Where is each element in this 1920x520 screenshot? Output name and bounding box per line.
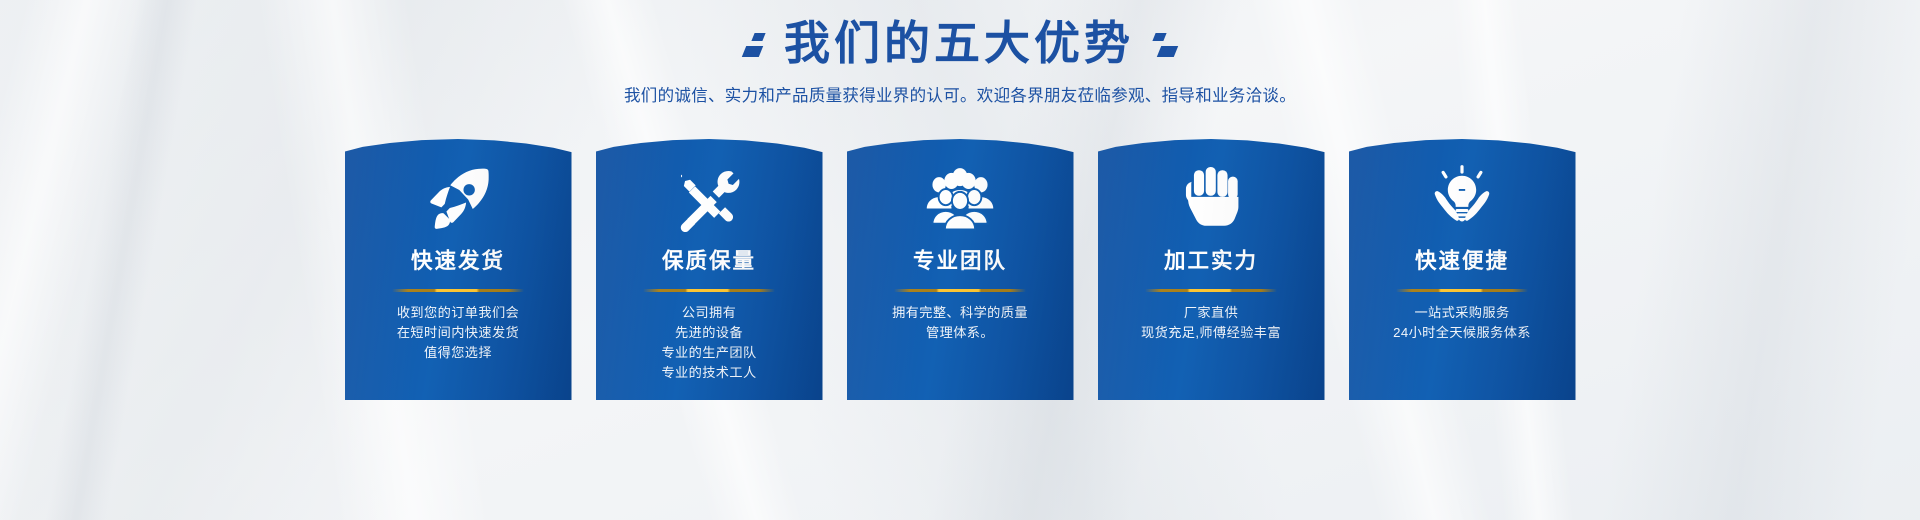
team-group-icon — [847, 138, 1074, 238]
gold-divider — [894, 289, 1026, 292]
diamond-accent-right-icon — [1154, 33, 1176, 57]
advantage-card[interactable]: 快速发货 收到您的订单我们会 在短时间内快速发货 值得您选择 — [345, 138, 572, 400]
advantage-card-description: 收到您的订单我们会 在短时间内快速发货 值得您选择 — [345, 303, 572, 363]
advantage-card-title: 快速便捷 — [1349, 249, 1576, 275]
fist-icon — [1098, 138, 1325, 238]
lightbulb-in-hands-icon — [1349, 138, 1576, 238]
advantage-card-list: 快速发货 收到您的订单我们会 在短时间内快速发货 值得您选择 — [0, 138, 1920, 400]
advantage-card-title: 快速发货 — [345, 249, 572, 275]
page-subtitle: 我们的诚信、实力和产品质量获得业界的认可。欢迎各界朋友莅临参观、指导和业务洽谈。 — [0, 82, 1920, 106]
diamond-accent-left-icon — [744, 33, 764, 57]
banner-header: 我们的五大优势 我们的诚信、实力和产品质量获得业界的认可。欢迎各界朋友莅临参观、… — [0, 14, 1920, 106]
advantage-card-description: 公司拥有 先进的设备 专业的生产团队 专业的技术工人 — [596, 303, 823, 383]
advantage-card-description: 拥有完整、科学的质量 管理体系。 — [847, 303, 1074, 343]
gold-divider — [1145, 289, 1277, 292]
wrench-screwdriver-icon — [596, 138, 823, 238]
gold-divider — [643, 289, 775, 292]
advantage-card-title: 专业团队 — [847, 249, 1074, 275]
advantage-card-description: 厂家直供 现货充足,师傅经验丰富 — [1098, 303, 1325, 343]
rocket-icon — [345, 138, 572, 238]
gold-divider — [1396, 289, 1528, 292]
advantage-card[interactable]: 保质保量 公司拥有 先进的设备 专业的生产团队 专业的技术工人 — [596, 138, 823, 400]
page-title: 我们的五大优势 — [784, 14, 1134, 73]
advantages-banner: 我们的五大优势 我们的诚信、实力和产品质量获得业界的认可。欢迎各界朋友莅临参观、… — [0, 0, 1920, 520]
title-row: 我们的五大优势 — [0, 14, 1920, 73]
advantage-card-title: 保质保量 — [596, 249, 823, 275]
advantage-card-title: 加工实力 — [1098, 249, 1325, 275]
advantage-card-description: 一站式采购服务 24小时全天候服务体系 — [1349, 303, 1576, 343]
advantage-card[interactable]: 加工实力 厂家直供 现货充足,师傅经验丰富 — [1098, 138, 1325, 400]
gold-divider — [392, 289, 524, 292]
advantage-card[interactable]: 快速便捷 一站式采购服务 24小时全天候服务体系 — [1349, 138, 1576, 400]
advantage-card[interactable]: 专业团队 拥有完整、科学的质量 管理体系。 — [847, 138, 1074, 400]
